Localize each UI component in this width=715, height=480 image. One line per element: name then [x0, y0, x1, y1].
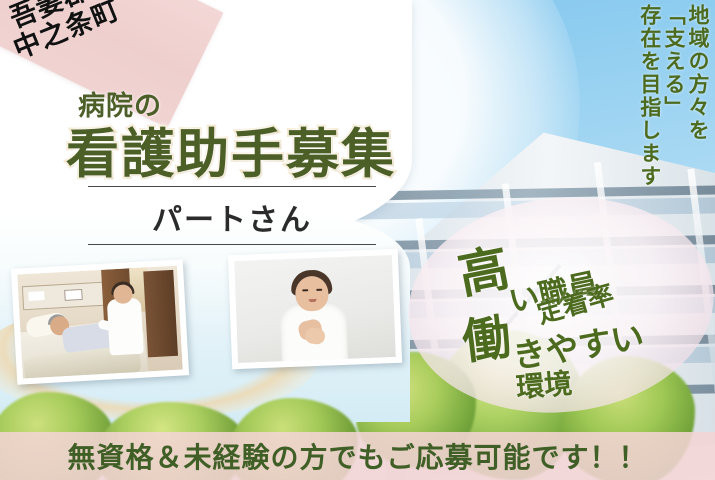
divider-bottom	[88, 244, 376, 245]
wall-switch	[28, 291, 44, 301]
photo-inner	[17, 266, 183, 379]
vertical-tagline-line-3: 存在を目指します	[639, 4, 661, 188]
employment-type-label: パートさん	[88, 195, 376, 239]
room-door	[143, 270, 178, 358]
nurse-eye	[302, 289, 308, 291]
vertical-tagline: 地域の方々を 「支える」 存在を目指します	[639, 4, 709, 188]
vertical-tagline-line-1: 地域の方々を	[687, 4, 709, 188]
pitch-workenv-big: 働	[458, 297, 514, 372]
nurse-eye	[316, 289, 322, 291]
nurse-with-patient-photo	[11, 259, 189, 384]
bottom-banner-text: 無資格＆未経験の方でもご応募可能です！！	[67, 436, 647, 476]
photo-inner	[234, 255, 396, 363]
smiling-nurse-photo	[228, 249, 402, 369]
job-ad-poster: 吾妻郡 中之条町 病院の 看護助手募集 パートさん	[0, 0, 715, 480]
nurse-head	[295, 275, 329, 311]
pitch-workenv-end: 環境	[514, 362, 573, 407]
bottom-banner: 無資格＆未経験の方でもご応募可能です！！	[0, 432, 715, 480]
page-title: 看護助手募集	[66, 112, 396, 188]
vertical-tagline-line-2: 「支える」	[663, 4, 685, 188]
divider-top	[88, 186, 376, 187]
wall-switch	[64, 289, 83, 301]
